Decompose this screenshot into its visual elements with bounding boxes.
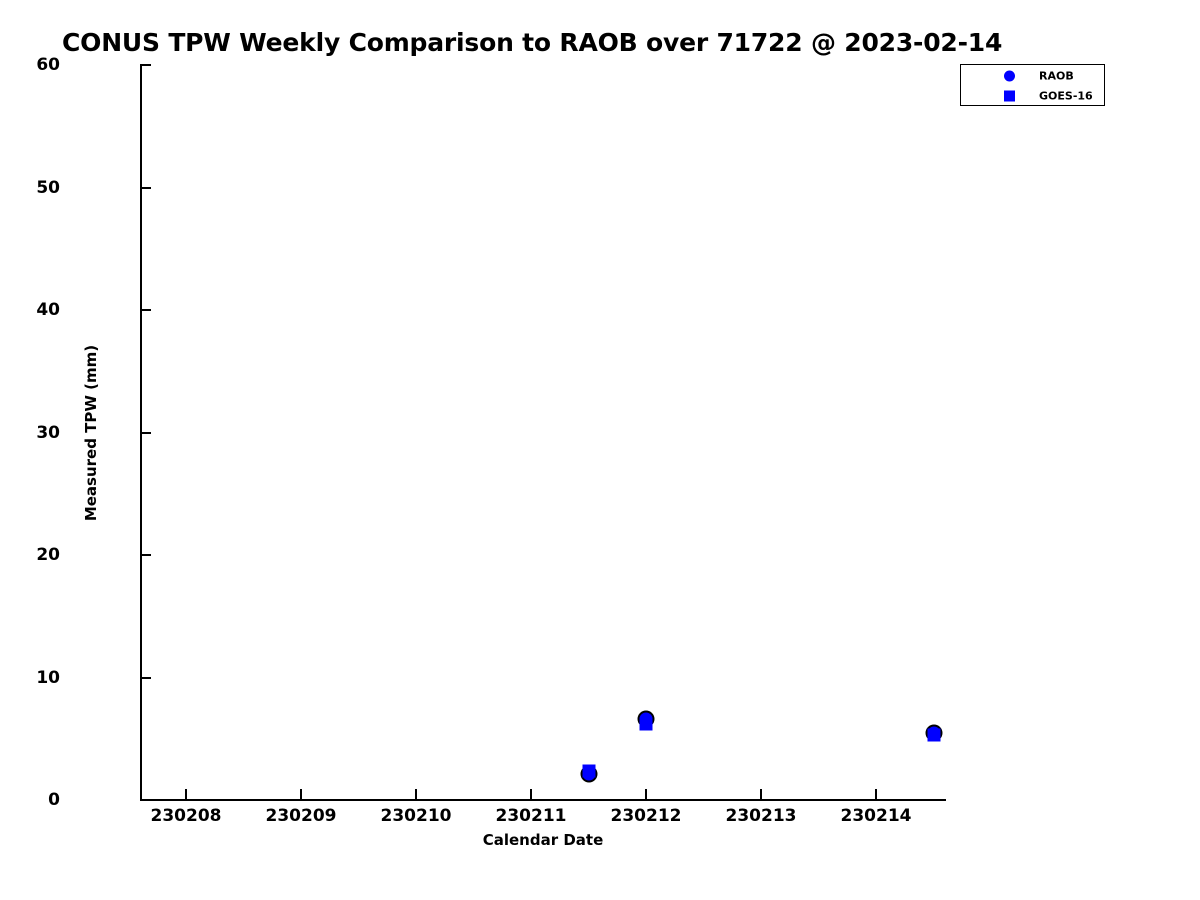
y-tick-mark <box>140 554 151 556</box>
y-tick-label: 40 <box>36 300 60 320</box>
y-tick-label: 30 <box>36 423 60 443</box>
y-tick-mark <box>140 64 151 66</box>
x-tick-label: 230214 <box>841 806 912 826</box>
legend-label: GOES-16 <box>1039 90 1093 103</box>
x-tick-label: 230210 <box>381 806 452 826</box>
x-tick-mark <box>300 789 302 800</box>
data-point-goes-16 <box>927 729 940 742</box>
y-tick-label: 0 <box>48 790 60 810</box>
y-tick-label: 50 <box>36 178 60 198</box>
plot-area <box>140 65 945 800</box>
legend-entry: RAOB <box>961 66 1104 86</box>
legend-entry: GOES-16 <box>961 86 1104 106</box>
legend-circle-icon <box>1004 71 1015 82</box>
x-tick-label: 230209 <box>266 806 337 826</box>
chart-title: CONUS TPW Weekly Comparison to RAOB over… <box>62 28 1002 57</box>
y-tick-mark <box>140 187 151 189</box>
legend-square-icon <box>1004 91 1015 102</box>
x-tick-mark <box>185 789 187 800</box>
y-tick-label: 10 <box>36 668 60 688</box>
chart-figure: CONUS TPW Weekly Comparison to RAOB over… <box>0 0 1200 900</box>
y-tick-mark <box>140 432 151 434</box>
x-tick-mark <box>760 789 762 800</box>
data-point-goes-16 <box>640 718 653 731</box>
y-tick-label: 60 <box>36 55 60 75</box>
y-tick-mark <box>140 677 151 679</box>
legend-label: RAOB <box>1039 70 1074 83</box>
x-tick-mark <box>415 789 417 800</box>
chart-legend: RAOBGOES-16 <box>960 64 1105 106</box>
y-axis-label: Measured TPW (mm) <box>82 283 100 583</box>
x-axis-label: Calendar Date <box>140 831 946 849</box>
x-tick-mark <box>645 789 647 800</box>
x-tick-label: 230213 <box>726 806 797 826</box>
y-tick-label: 20 <box>36 545 60 565</box>
y-tick-mark <box>140 799 151 801</box>
y-tick-mark <box>140 309 151 311</box>
x-tick-label: 230208 <box>151 806 222 826</box>
data-point-goes-16 <box>582 764 595 777</box>
x-tick-label: 230211 <box>496 806 567 826</box>
x-tick-mark <box>875 789 877 800</box>
x-tick-mark <box>530 789 532 800</box>
x-tick-label: 230212 <box>611 806 682 826</box>
